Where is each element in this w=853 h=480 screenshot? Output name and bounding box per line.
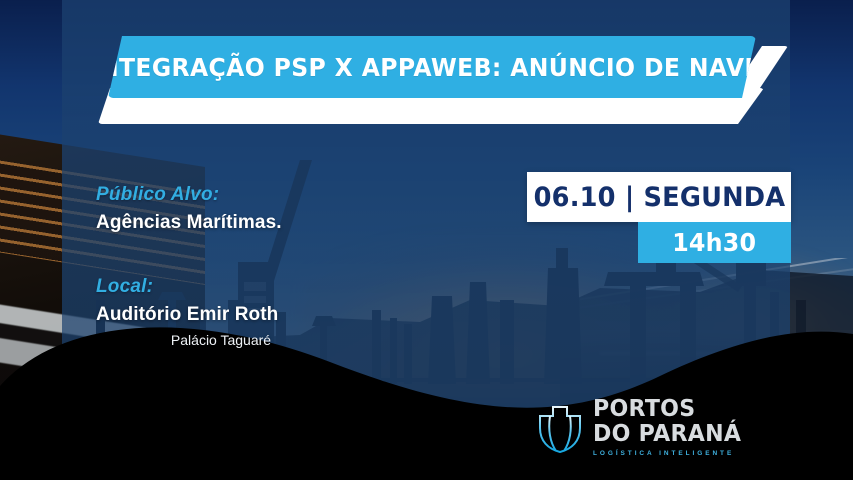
event-time-badge: 14h30	[638, 222, 791, 263]
location-value: Auditório Emir Roth	[96, 304, 456, 326]
event-announcement-banner: INTEGRAÇÃO PSP X APPAWEB: ANÚNCIO DE NAV…	[0, 0, 853, 480]
audience-label: Público Alvo:	[96, 184, 456, 206]
logo-line-2: DO PARANÁ	[593, 423, 741, 446]
location-label: Local:	[96, 276, 456, 298]
logo-wordmark: PORTOS DO PARANÁ LOGÍSTICA INTELIGENTE	[593, 398, 747, 458]
banner-title-text: INTEGRAÇÃO PSP X APPAWEB: ANÚNCIO DE NAV…	[90, 53, 774, 82]
logo-tagline: LOGÍSTICA INTELIGENTE	[593, 451, 744, 458]
title-banner: INTEGRAÇÃO PSP X APPAWEB: ANÚNCIO DE NAV…	[98, 36, 788, 131]
portos-do-parana-logo: PORTOS DO PARANÁ LOGÍSTICA INTELIGENTE	[536, 398, 747, 458]
event-time-text: 14h30	[673, 228, 757, 257]
audience-value: Agências Marítimas.	[96, 212, 456, 234]
logo-line-1: PORTOS	[593, 398, 741, 421]
location-sublabel: Palácio Taguaré	[96, 332, 346, 348]
event-date-text: 06.10 | SEGUNDA	[533, 182, 785, 213]
details-spacer	[96, 234, 456, 276]
banner-bar: INTEGRAÇÃO PSP X APPAWEB: ANÚNCIO DE NAV…	[108, 36, 756, 98]
portos-shield-globe-icon	[536, 402, 584, 454]
event-date-badge: 06.10 | SEGUNDA	[527, 172, 791, 222]
event-details: Público Alvo: Agências Marítimas. Local:…	[96, 184, 456, 348]
